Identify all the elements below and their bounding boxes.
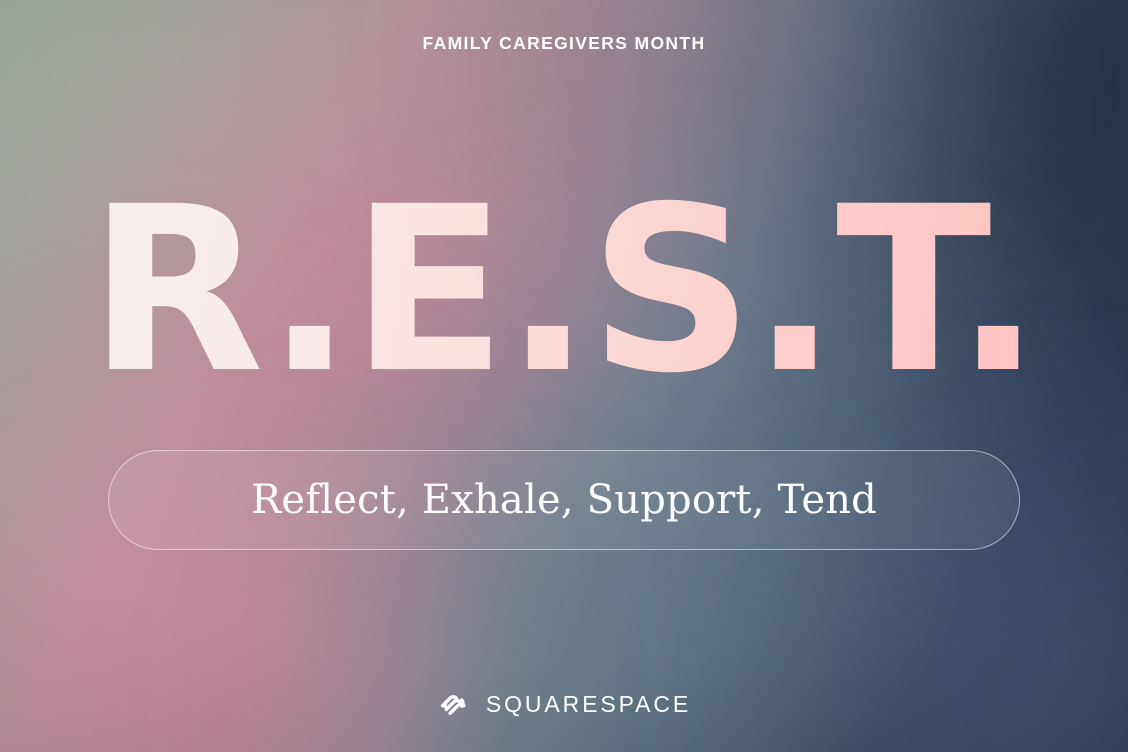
poster-canvas: FAMILY CAREGIVERS MONTH R.E.S.T. Reflect… bbox=[0, 0, 1128, 752]
squarespace-logo-mark-icon bbox=[437, 687, 471, 721]
subtitle-pill: Reflect, Exhale, Support, Tend bbox=[108, 450, 1020, 550]
page-title: R.E.S.T. bbox=[88, 176, 1039, 404]
eyebrow-label: FAMILY CAREGIVERS MONTH bbox=[0, 33, 1128, 54]
headline-container: R.E.S.T. bbox=[0, 176, 1128, 404]
subtitle-text: Reflect, Exhale, Support, Tend bbox=[251, 477, 877, 523]
brand-wordmark: SQUARESPACE bbox=[486, 691, 691, 718]
brand-footer: SQUARESPACE bbox=[0, 687, 1128, 721]
poster-content: FAMILY CAREGIVERS MONTH R.E.S.T. Reflect… bbox=[0, 0, 1128, 752]
